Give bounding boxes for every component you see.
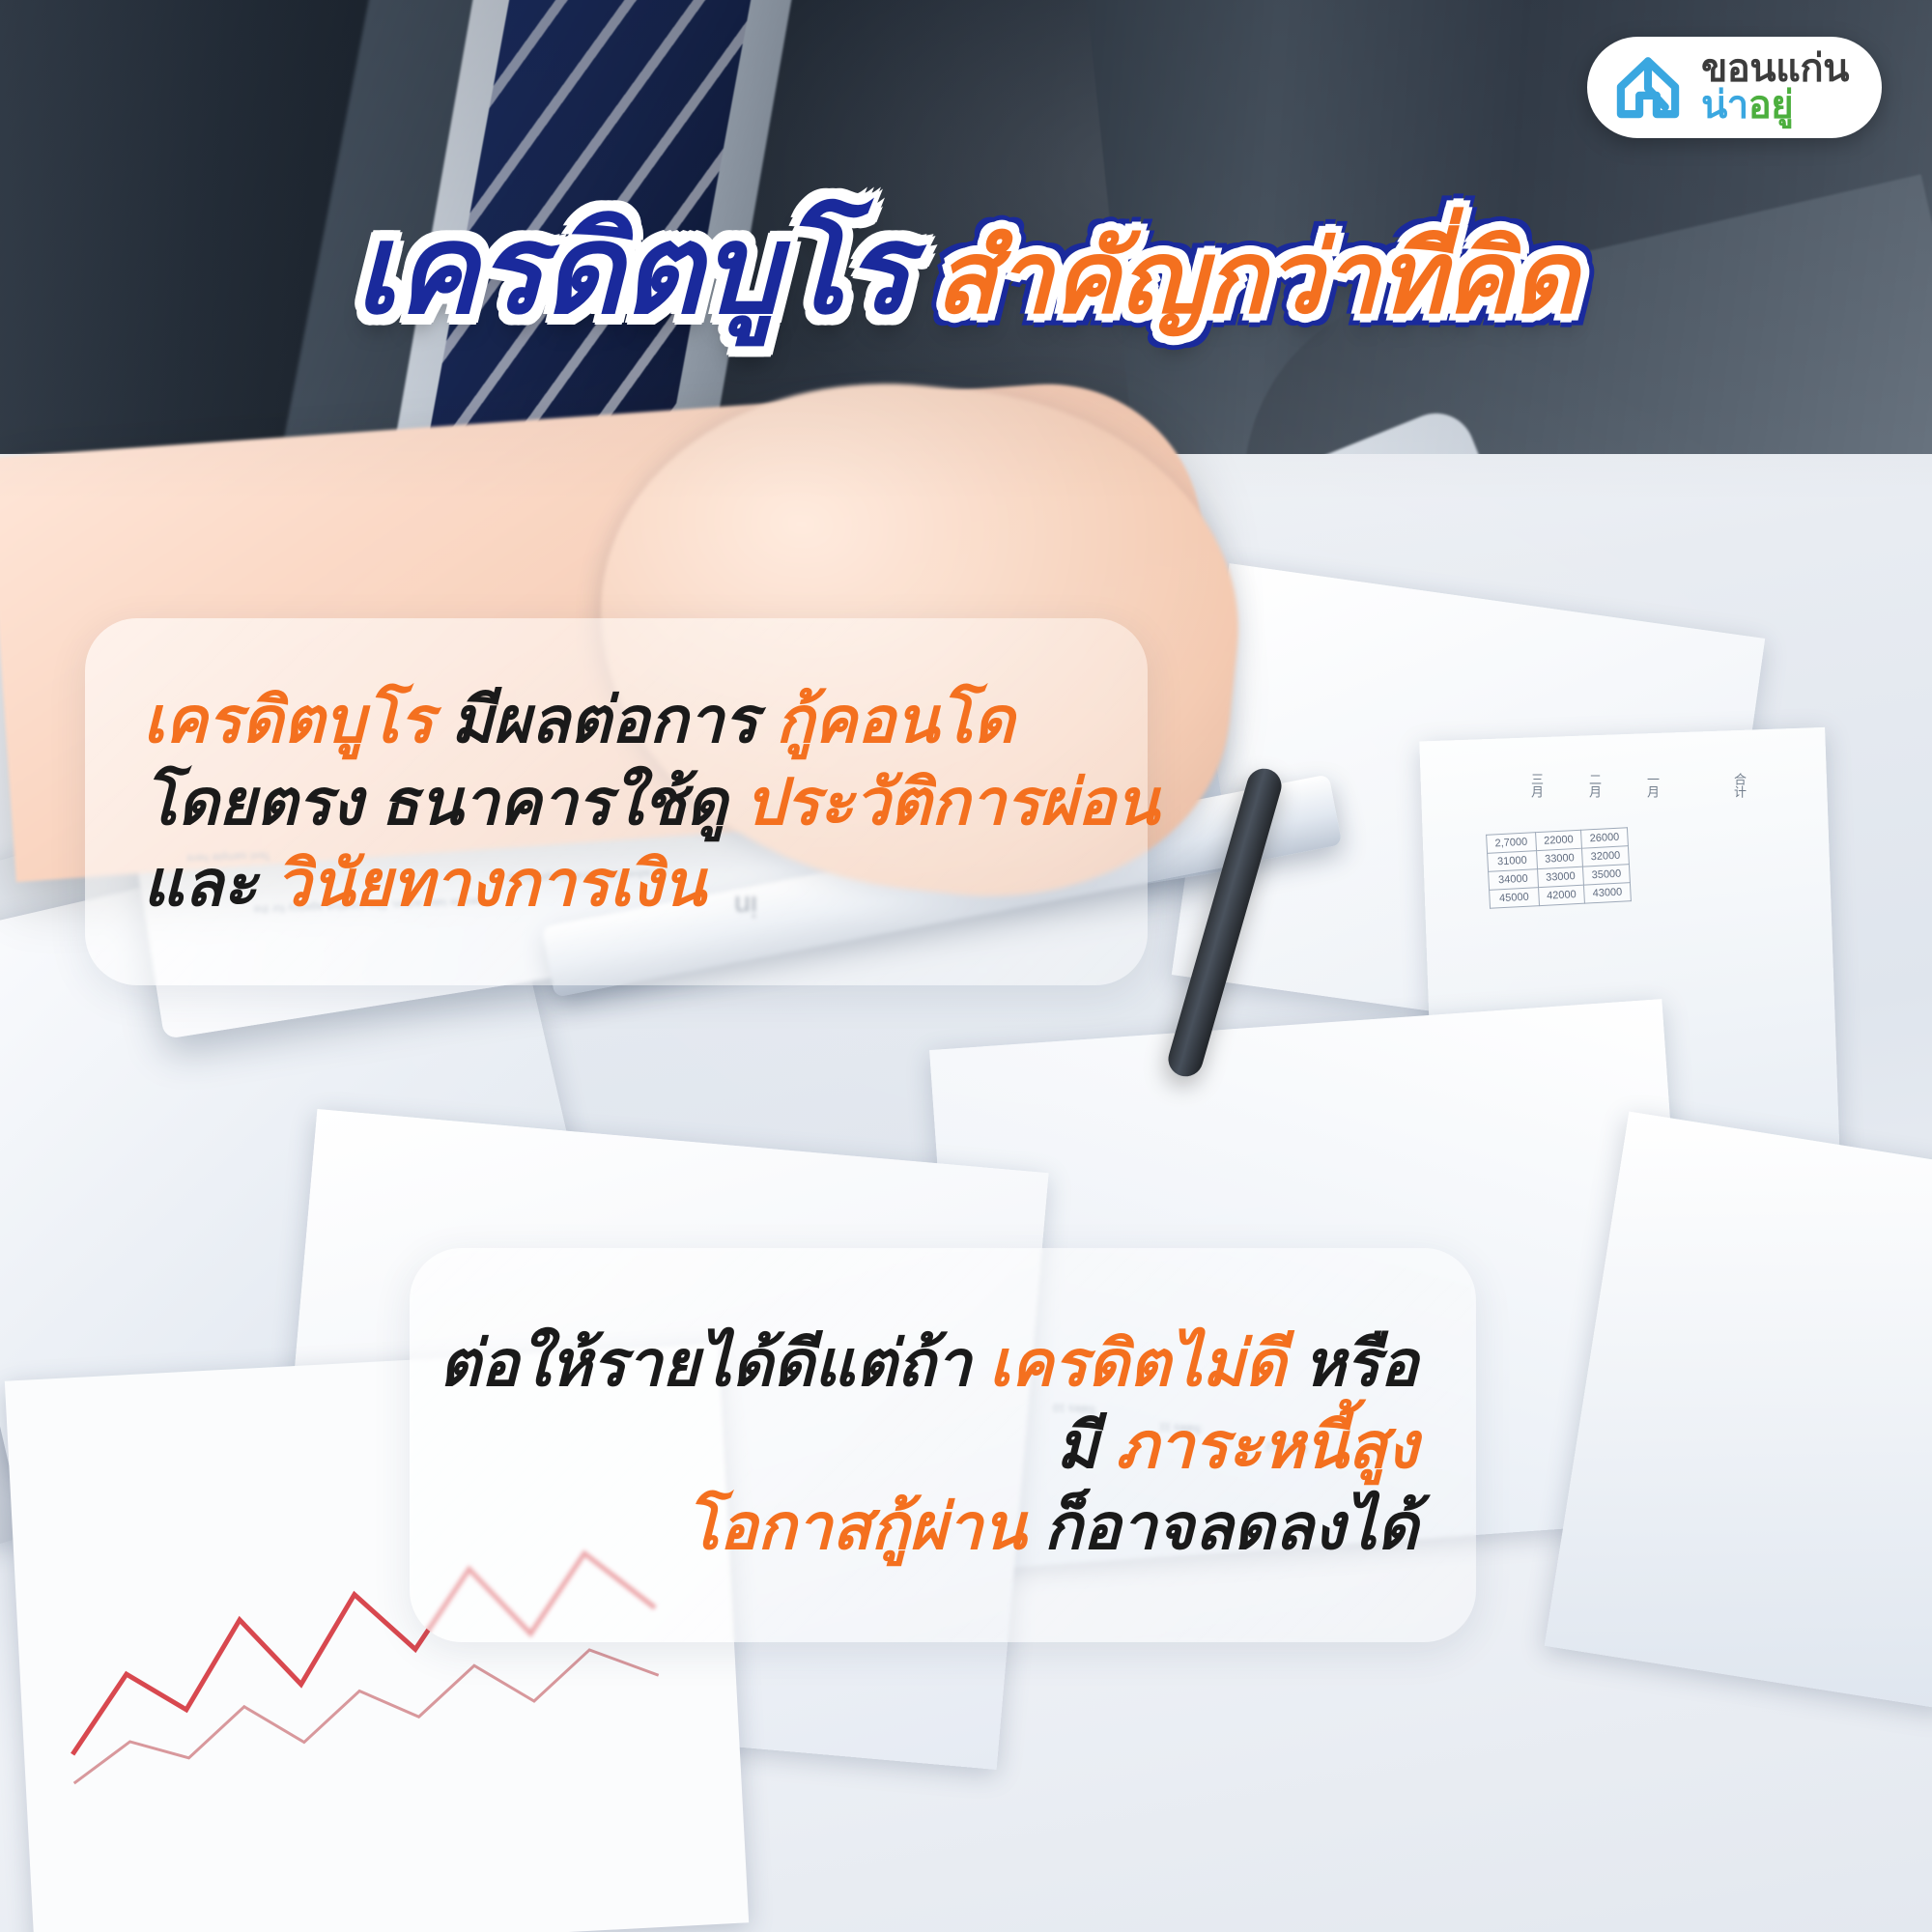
table-cell: 43000 [1584,883,1632,903]
card2-line1-c: หรือ [1286,1327,1418,1399]
table-cell: 32000 [1582,846,1630,867]
headline-primary: เครดิตบูโร [355,209,910,332]
spreadsheet-body: 2,70002200026000310003300032000340003300… [1487,828,1632,909]
table-cell: 33000 [1536,848,1583,868]
card1-line1-c: กู้คอนโด [776,684,1014,755]
card2-line3-a: โอกาสกู้ผ่าน [685,1491,1026,1562]
logo-wordmark: ขอนแก่น น่าอยู่ [1701,50,1849,125]
logo-line-1: ขอนแก่น [1701,50,1849,87]
card2-line-2: มี ภาระหนี้สูง [1057,1405,1418,1486]
table-cell: 35000 [1583,865,1631,885]
card1-line2-b: ประวัติการผ่อน [745,766,1159,838]
card2-line1-a: ต่อให้รายได้ดีแต่ถ้า [440,1327,989,1399]
card1-line1-b: มีผลต่อการ [434,684,776,755]
card2-line2-b: ภาระหนี้สูง [1116,1409,1418,1481]
chinese-column-1: 合计 [1729,773,1747,798]
chinese-column-3: 二月 [1584,773,1602,798]
spreadsheet-table: 2,70002200026000310003300032000340003300… [1486,827,1632,909]
card1-line2-a: โดยตรง ธนาคารใช้ดู [143,766,745,838]
brand-logo[interactable]: ขอนแก่น น่าอยู่ [1587,37,1882,138]
house-logo-icon [1612,51,1684,123]
chinese-column-4: 三月 [1526,773,1544,798]
chinese-column-2: 一月 [1642,773,1660,798]
table-cell: 22000 [1535,830,1582,850]
table-cell: 42000 [1538,885,1585,905]
card1-line3-a: และ [143,847,275,919]
card1-line-1: เครดิตบูโร มีผลต่อการ กู้คอนโด [143,679,1090,760]
info-card-1: เครดิตบูโร มีผลต่อการ กู้คอนโด โดยตรง ธน… [85,618,1148,985]
card2-line-3: โอกาสกู้ผ่าน ก็อาจลดลงได้ [685,1486,1418,1567]
page-title: เครดิตบูโรสำคัญกว่าที่คิด [0,209,1932,332]
card1-line1-a: เครดิตบูโร [143,684,434,755]
info-card-2: ต่อให้รายได้ดีแต่ถ้า เครดิตไม่ดี หรือ มี… [410,1248,1476,1642]
logo-line-2-green: อยู่ [1748,84,1793,127]
logo-line-2: น่าอยู่ [1701,87,1849,124]
card2-line3-b: ก็อาจลดลงได้ [1026,1491,1418,1562]
card2-line-1: ต่อให้รายได้ดีแต่ถ้า เครดิตไม่ดี หรือ [440,1322,1418,1404]
headline-secondary: สำคัญกว่าที่คิด [935,228,1578,328]
poster-canvas: people take action. The creative agency … [0,0,1932,1932]
card1-line-3: และ วินัยทางการเงิน [143,842,1090,923]
card1-line-2: โดยตรง ธนาคารใช้ดู ประวัติการผ่อน [143,761,1090,842]
card1-line3-b: วินัยทางการเงิน [275,847,706,919]
table-cell: 26000 [1581,828,1629,848]
logo-line-2-blue: น่า [1701,84,1748,127]
card2-line1-b: เครดิตไม่ดี [989,1327,1286,1399]
card2-line2-a: มี [1057,1409,1117,1481]
table-cell: 33000 [1537,867,1584,887]
table-cell: 45000 [1490,888,1540,909]
